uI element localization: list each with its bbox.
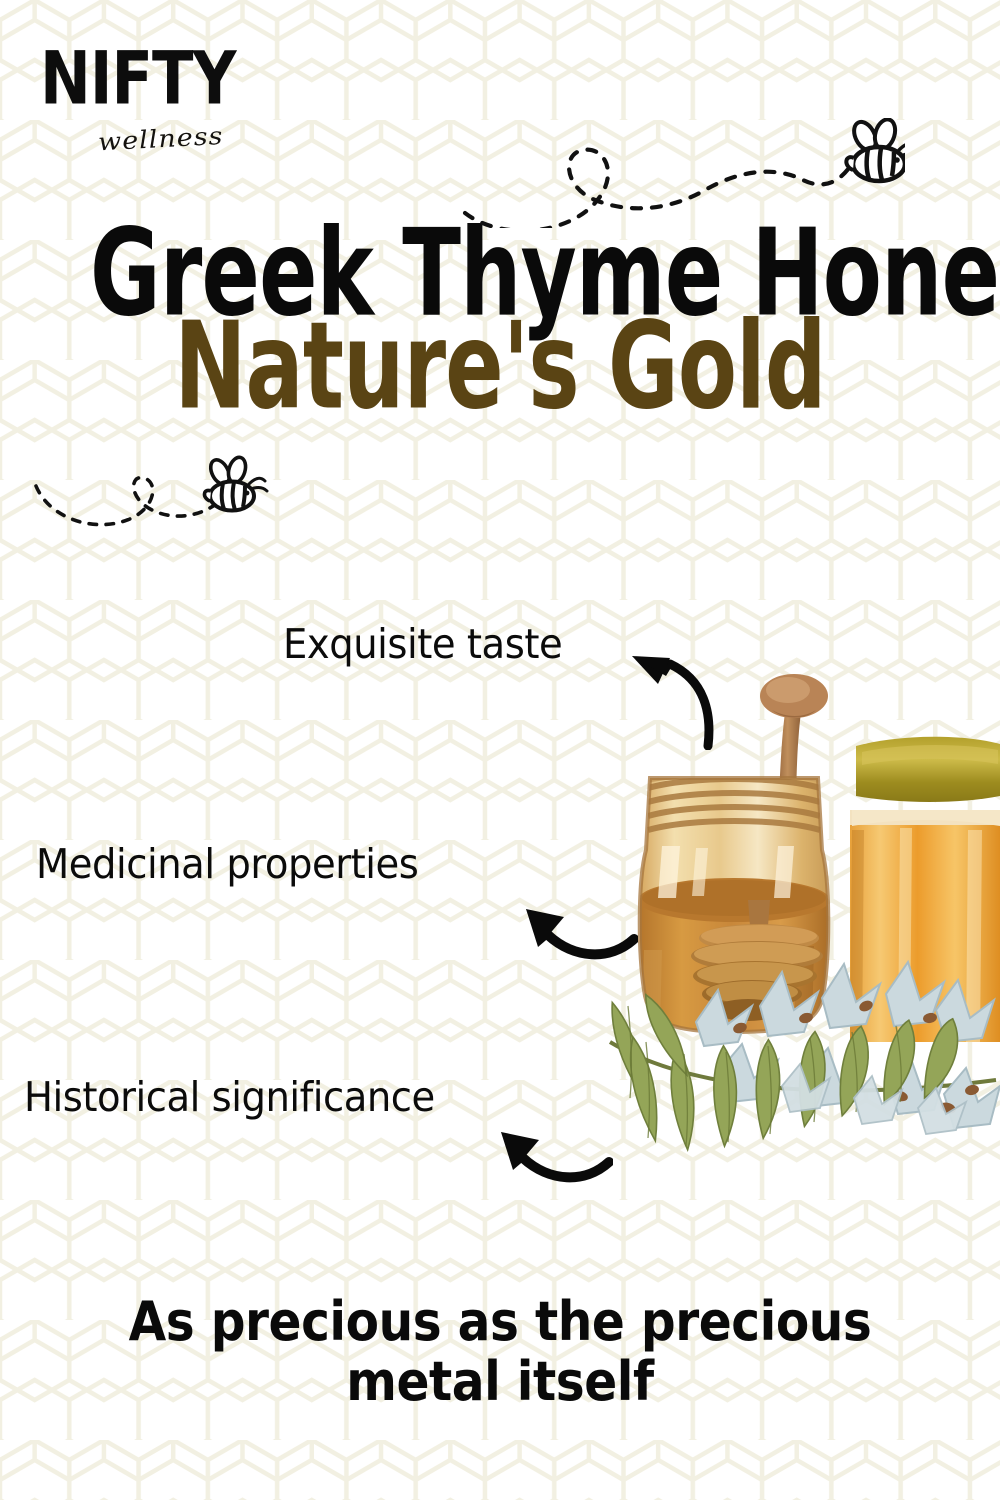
curved-arrow-left-icon bbox=[608, 640, 728, 750]
brand-script-tagline: wellness bbox=[97, 122, 224, 156]
curved-arrow-left-icon bbox=[493, 1118, 613, 1193]
brand-logo[interactable]: NIFTY wellness bbox=[40, 42, 300, 172]
infographic-poster: NIFTY wellness bbox=[0, 0, 1000, 1500]
tagline-line-1: As precious as the precious bbox=[50, 1292, 950, 1352]
feature-label-exquisite-taste: Exquisite taste bbox=[283, 620, 562, 668]
flying-bee-icon bbox=[455, 118, 905, 228]
curved-arrow-left-icon bbox=[518, 895, 638, 970]
feature-label-medicinal-properties: Medicinal properties bbox=[36, 840, 418, 888]
page-title: Greek Thyme Honey Nature's Gold bbox=[0, 218, 1000, 407]
poster-tagline: As precious as the precious metal itself bbox=[0, 1292, 1000, 1413]
headline-line-2: Nature's Gold bbox=[90, 311, 910, 422]
brand-wordmark: NIFTY bbox=[40, 42, 295, 115]
tagline-line-2: metal itself bbox=[50, 1352, 950, 1412]
flying-bee-icon bbox=[28, 448, 288, 540]
feature-label-historical-significance: Historical significance bbox=[24, 1073, 435, 1121]
